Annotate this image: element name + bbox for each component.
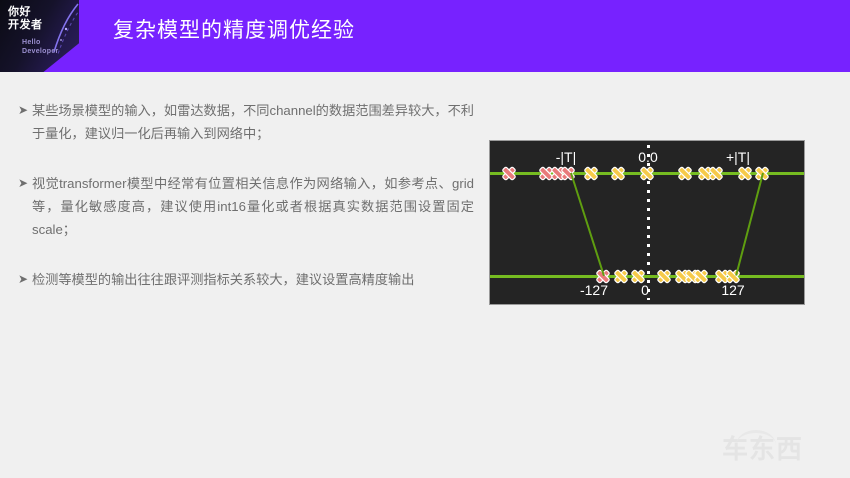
- brand-logo-english: Hello Developer: [22, 38, 59, 56]
- diagram-canvas: -|T|0.0+|T|-1270127: [490, 141, 804, 304]
- diagram-top-tick-label: +|T|: [726, 149, 750, 165]
- watermark-logo: 车东西: [722, 432, 832, 466]
- diagram-value-marker-top: [612, 167, 625, 180]
- diagram-value-marker-top: [739, 167, 752, 180]
- diagram-value-marker-bottom: [615, 270, 628, 283]
- diagram-value-marker-top: [641, 167, 654, 180]
- positive-clamp-line: [735, 173, 764, 276]
- diagram-bottom-tick-label: 127: [721, 282, 744, 298]
- page-title: 复杂模型的精度调优经验: [113, 17, 355, 45]
- brand-logo-chinese: 你好 开发者: [8, 6, 43, 32]
- brand-logo-en-line2: Developer: [22, 47, 59, 56]
- brand-logo: 你好 开发者 Hello Developer: [0, 0, 79, 72]
- bullet-text: 视觉transformer模型中经常有位置相关信息作为网络输入，如参考点、gri…: [32, 176, 474, 237]
- diagram-value-marker-top: [679, 167, 692, 180]
- bullet-item: ➤ 视觉transformer模型中经常有位置相关信息作为网络输入，如参考点、g…: [18, 172, 474, 241]
- bullet-text: 某些场景模型的输入，如雷达数据，不同channel的数据范围差异较大，不利于量化…: [32, 103, 474, 141]
- slide-root: 你好 开发者 Hello Developer 复杂模型的精度调优经验 ➤ 某些场…: [0, 0, 850, 478]
- header-bar: 你好 开发者 Hello Developer 复杂模型的精度调优经验: [0, 0, 850, 72]
- bullet-text: 检测等模型的输出往往跟评测指标关系较大，建议设置高精度输出: [32, 272, 414, 287]
- diagram-value-marker-top: [503, 167, 516, 180]
- quantization-saturation-diagram: -|T|0.0+|T|-1270127: [489, 140, 805, 305]
- brand-logo-en-line1: Hello: [22, 38, 59, 47]
- brand-logo-cn-line1: 你好: [8, 6, 43, 19]
- negative-clamp-line: [570, 173, 605, 277]
- diagram-value-marker-bottom: [632, 270, 645, 283]
- diagram-value-marker-top: [710, 167, 723, 180]
- bullet-list: ➤ 某些场景模型的输入，如雷达数据，不同channel的数据范围差异较大，不利于…: [18, 99, 474, 291]
- diagram-bottom-tick-label: -127: [580, 282, 608, 298]
- brand-logo-cn-line2: 开发者: [8, 19, 43, 32]
- bullet-arrow-icon: ➤: [18, 172, 28, 195]
- diagram-bottom-tick-label: 0: [641, 282, 649, 298]
- diagram-value-marker-top: [585, 167, 598, 180]
- bullet-arrow-icon: ➤: [18, 268, 28, 291]
- bullet-item: ➤ 检测等模型的输出往往跟评测指标关系较大，建议设置高精度输出: [18, 268, 474, 291]
- bullet-item: ➤ 某些场景模型的输入，如雷达数据，不同channel的数据范围差异较大，不利于…: [18, 99, 474, 145]
- diagram-top-tick-label: -|T|: [556, 149, 577, 165]
- bullet-arrow-icon: ➤: [18, 99, 28, 122]
- diagram-value-marker-bottom: [695, 270, 708, 283]
- watermark-arc-icon: [736, 430, 776, 445]
- diagram-value-marker-bottom: [658, 270, 671, 283]
- diagram-top-tick-label: 0.0: [638, 149, 657, 165]
